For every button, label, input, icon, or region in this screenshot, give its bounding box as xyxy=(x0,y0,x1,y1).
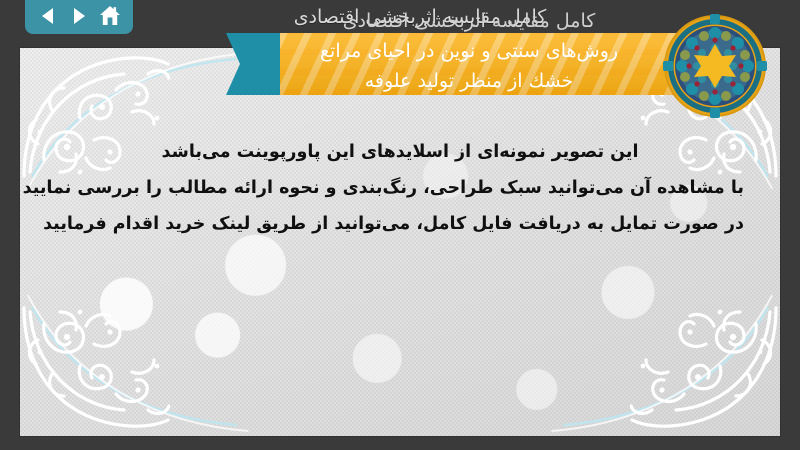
ribbon-band xyxy=(280,33,712,95)
navigation-bar[interactable] xyxy=(25,0,133,34)
next-triangle-icon xyxy=(68,5,90,27)
title-ribbon-banner: کامل مقایسه اثربخشی اقتصادی روش‌های سنتی… xyxy=(226,33,712,95)
slide-title-line-1: کامل مقایسه اثربخشی اقتصادی xyxy=(160,2,680,32)
home-icon xyxy=(98,4,122,28)
body-line-1: این تصویر نمونه‌ای از اسلایدهای این پاور… xyxy=(56,134,744,170)
prev-button[interactable] xyxy=(35,3,61,29)
body-line-3: در صورت تمایل به دریافت فایل کامل، می‌تو… xyxy=(56,206,744,242)
next-button[interactable] xyxy=(66,3,92,29)
prev-triangle-icon xyxy=(37,5,59,27)
home-button[interactable] xyxy=(97,3,123,29)
circular-mandala-medallion xyxy=(663,14,767,118)
slide-canvas: کامل مقایسه اثربخشی اقتصادی روش‌های سنتی… xyxy=(0,0,800,450)
ribbon-tail xyxy=(226,33,280,95)
body-line-2: با مشاهده آن می‌توانید سبک طراحی، رنگ‌بن… xyxy=(56,170,744,206)
slide-body-text: این تصویر نمونه‌ای از اسلایدهای این پاور… xyxy=(20,134,780,242)
ribbon-title-line-1: کامل مقایسه اثربخشی اقتصادی xyxy=(226,6,712,36)
